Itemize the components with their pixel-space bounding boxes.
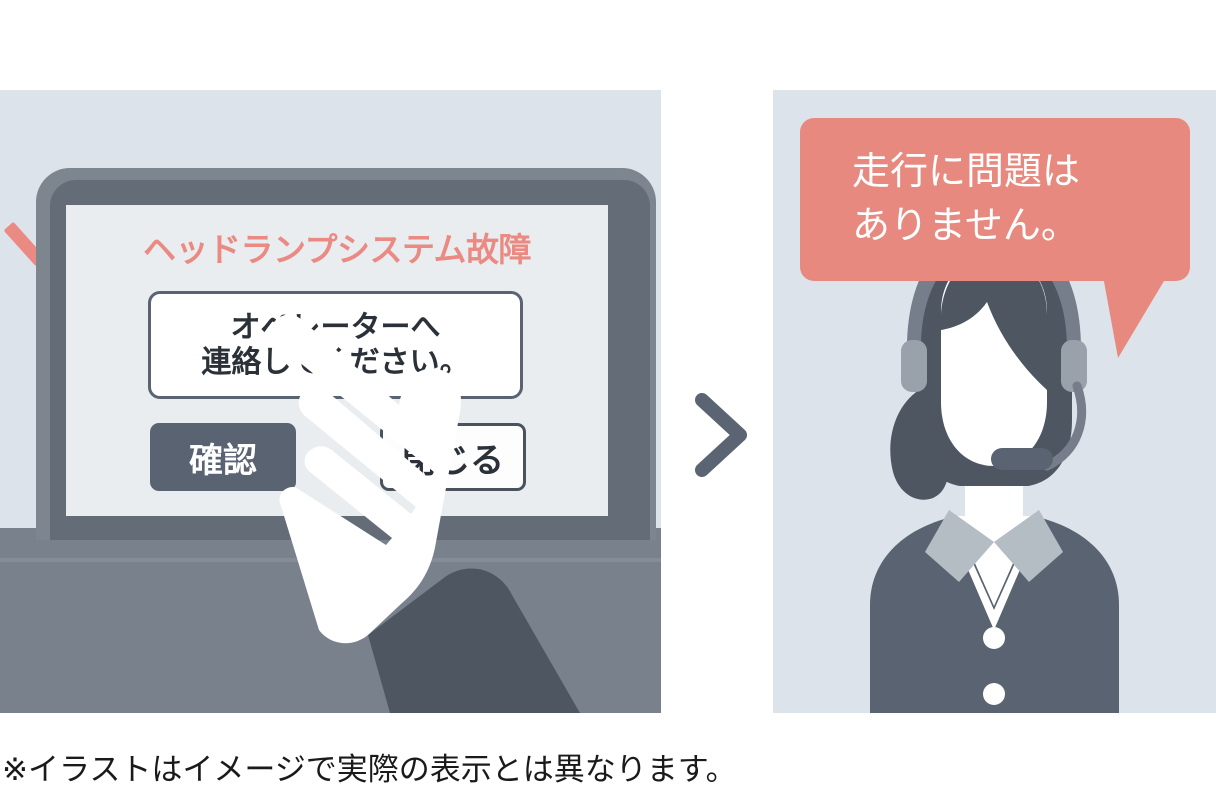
dashboard-screen: ヘッドランプシステム故障 オペレーターへ 連絡してください。 確認 閉じる — [66, 205, 608, 516]
close-button-label: 閉じる — [402, 433, 504, 482]
message-line-1: オペレーターへ — [231, 310, 441, 345]
speech-bubble-line-1: 走行に問題は — [852, 146, 1190, 200]
speech-bubble: 走行に問題は ありません。 — [800, 118, 1190, 281]
left-panel-dashboard: ヘッドランプシステム故障 オペレーターへ 連絡してください。 確認 閉じる — [0, 90, 661, 713]
speech-bubble-line-2: ありません。 — [852, 200, 1190, 254]
message-line-2: 連絡してください。 — [201, 345, 469, 380]
dashboard-body — [0, 528, 661, 713]
disclaimer-caption: ※イラストはイメージで実際の表示とは異なります。 — [2, 744, 737, 789]
close-button[interactable]: 閉じる — [380, 423, 526, 491]
confirm-button-label: 確認 — [189, 433, 257, 482]
confirm-button[interactable]: 確認 — [150, 423, 296, 491]
jacket-button — [983, 683, 1005, 705]
dashboard-seam-line — [0, 558, 661, 562]
chevron-right-icon — [690, 392, 754, 478]
right-panel-operator: 走行に問題は ありません。 — [773, 90, 1216, 713]
alert-title: ヘッドランプシステム故障 — [66, 223, 608, 271]
jacket-button — [983, 627, 1005, 649]
message-box: オペレーターへ 連絡してください。 — [148, 291, 523, 399]
